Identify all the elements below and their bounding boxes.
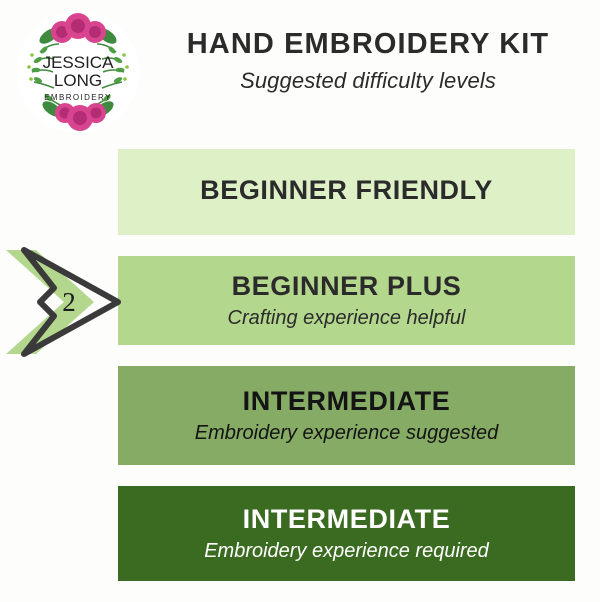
level-bar-intermediate-suggested[interactable]: INTERMEDIATE Embroidery experience sugge… bbox=[118, 366, 575, 465]
level-bar-intermediate-required[interactable]: INTERMEDIATE Embroidery experience requi… bbox=[118, 486, 575, 581]
level-title: BEGINNER FRIENDLY bbox=[200, 175, 493, 206]
brand-logo: JESSICA LONG EMBROIDERY bbox=[16, 10, 140, 134]
logo-name-line2: LONG bbox=[54, 71, 102, 90]
difficulty-levels-list: BEGINNER FRIENDLY BEGINNER PLUS Crafting… bbox=[118, 149, 575, 602]
floral-wreath-logo-icon: JESSICA LONG EMBROIDERY bbox=[16, 10, 140, 134]
level-title: INTERMEDIATE bbox=[243, 386, 451, 417]
header: JESSICA LONG EMBROIDERY HAND EMBROIDERY … bbox=[0, 0, 600, 140]
level-bar-beginner-plus[interactable]: BEGINNER PLUS Crafting experience helpfu… bbox=[118, 256, 575, 345]
level-description: Crafting experience helpful bbox=[228, 306, 466, 330]
marker-number: 2 bbox=[2, 246, 126, 358]
page-subtitle: Suggested difficulty levels bbox=[148, 68, 588, 94]
logo-name-line1: JESSICA bbox=[43, 53, 115, 72]
level-description: Embroidery experience suggested bbox=[195, 421, 499, 445]
logo-name-line3: EMBROIDERY bbox=[44, 93, 112, 102]
current-level-marker: 2 bbox=[2, 246, 126, 358]
level-description: Embroidery experience required bbox=[204, 539, 489, 563]
level-bar-beginner-friendly[interactable]: BEGINNER FRIENDLY bbox=[118, 149, 575, 235]
level-title: BEGINNER PLUS bbox=[232, 271, 462, 302]
level-title: INTERMEDIATE bbox=[243, 504, 451, 535]
header-text-block: HAND EMBROIDERY KIT Suggested difficulty… bbox=[148, 28, 588, 94]
page-title: HAND EMBROIDERY KIT bbox=[148, 28, 588, 60]
